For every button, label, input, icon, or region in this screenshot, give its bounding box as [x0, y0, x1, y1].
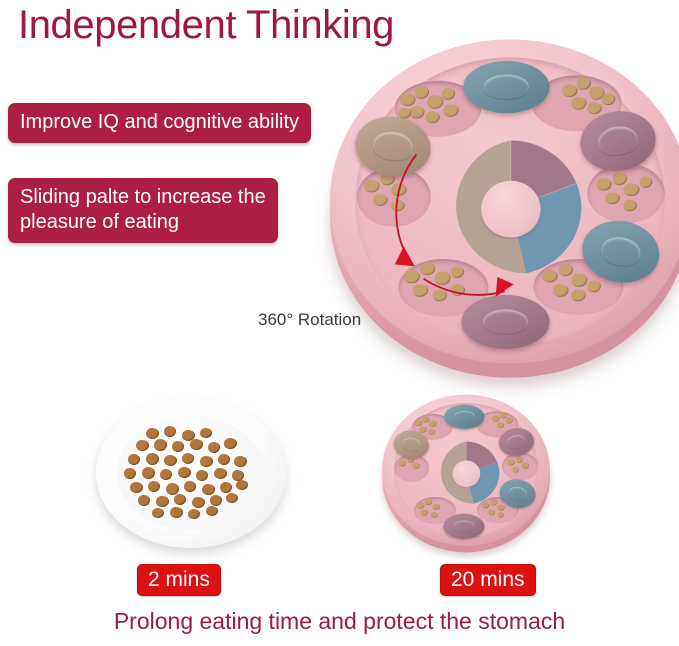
kibble-pile: [122, 424, 262, 524]
arrow-head-up: [395, 246, 415, 266]
plain-food-plate-image: [96, 398, 286, 548]
main-puzzle-toy-image: [330, 34, 679, 394]
time-badge-2-mins: 2 mins: [137, 564, 221, 596]
arrow-head-right: [496, 277, 514, 297]
kibble-cluster: [397, 456, 428, 480]
bottom-caption: Prolong eating time and protect the stom…: [0, 608, 679, 635]
sliding-cover-teal: [444, 405, 484, 429]
sliding-cover-mauve: [443, 514, 484, 539]
slow-feeder-toy-image-small: [382, 392, 550, 560]
hub-center-knob: [452, 460, 480, 486]
rotation-arrow-group: [330, 34, 679, 394]
feature-badge-sliding-plate: Sliding palte to increase the pleasure o…: [8, 178, 278, 243]
marketing-infographic: Independent Thinking Improve IQ and cogn…: [0, 0, 679, 646]
time-badge-20-mins: 20 mins: [440, 564, 536, 596]
rotating-center-hub: [433, 442, 499, 505]
page-title: Independent Thinking: [18, 0, 394, 52]
rotation-caption: 360° Rotation: [258, 310, 361, 330]
feature-badge-improve-iq: Improve IQ and cognitive ability: [8, 103, 311, 143]
kibble-cluster: [505, 456, 537, 480]
